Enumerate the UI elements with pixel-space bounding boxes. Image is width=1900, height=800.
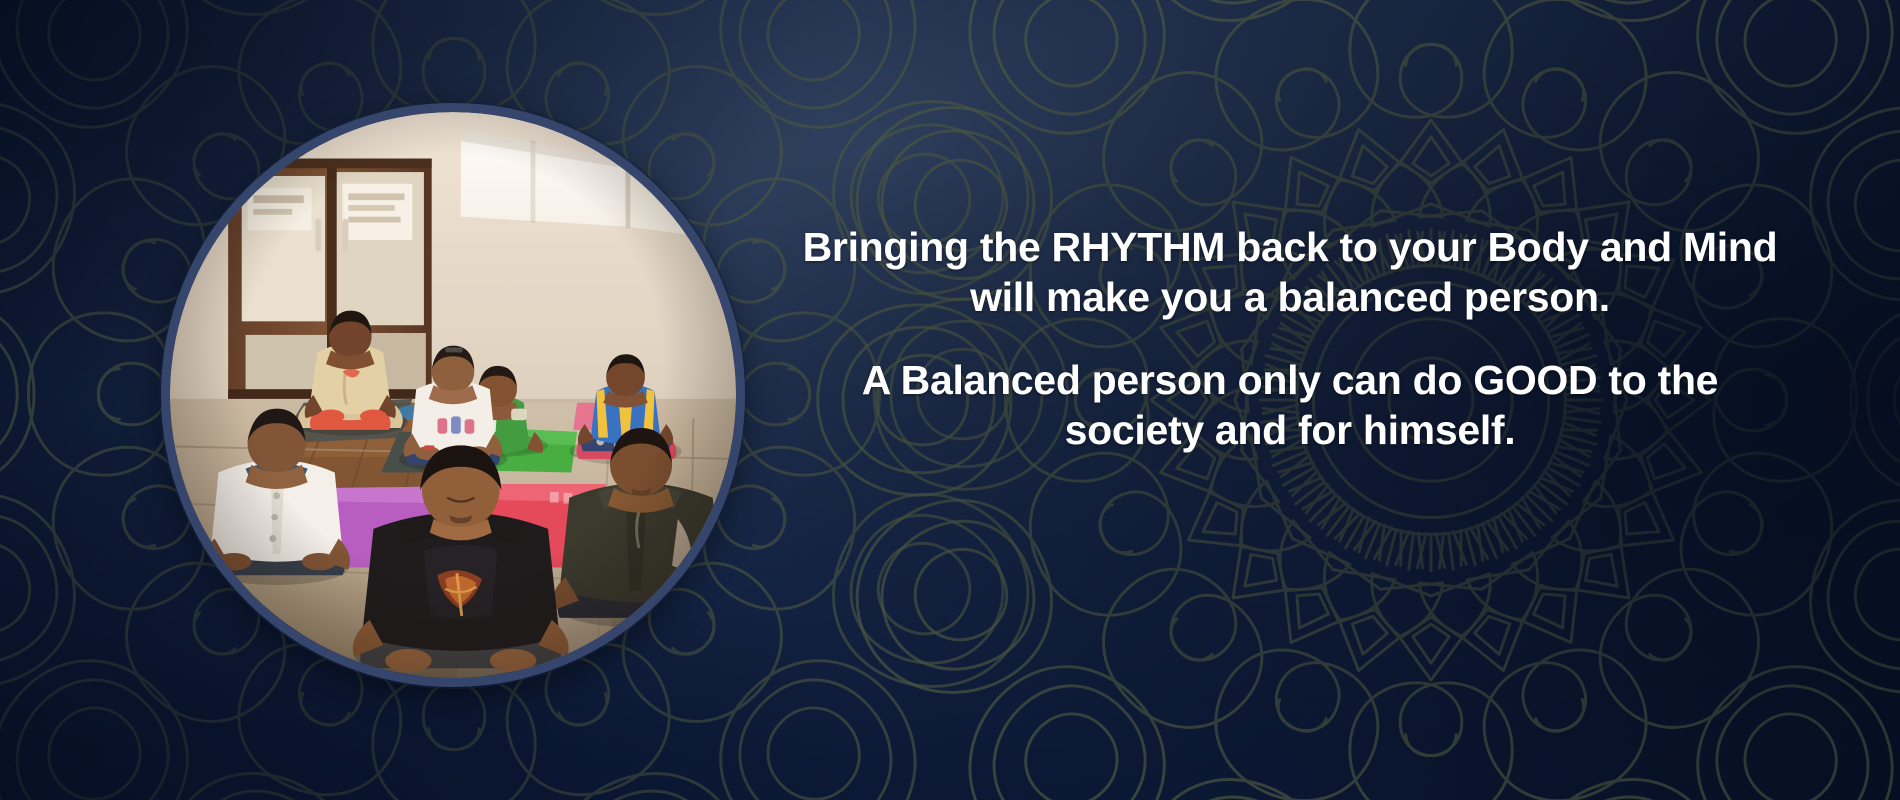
paragraph-spacer bbox=[795, 322, 1785, 355]
yoga-promo-banner: Bringing the RHYTHM back to your Body an… bbox=[0, 0, 1900, 800]
message-paragraph-1: Bringing the RHYTHM back to your Body an… bbox=[795, 222, 1785, 322]
yoga-class-photo bbox=[161, 103, 745, 687]
message-block: Bringing the RHYTHM back to your Body an… bbox=[795, 222, 1785, 455]
message-paragraph-2: A Balanced person only can do GOOD to th… bbox=[795, 355, 1785, 455]
photo-image bbox=[170, 112, 736, 678]
